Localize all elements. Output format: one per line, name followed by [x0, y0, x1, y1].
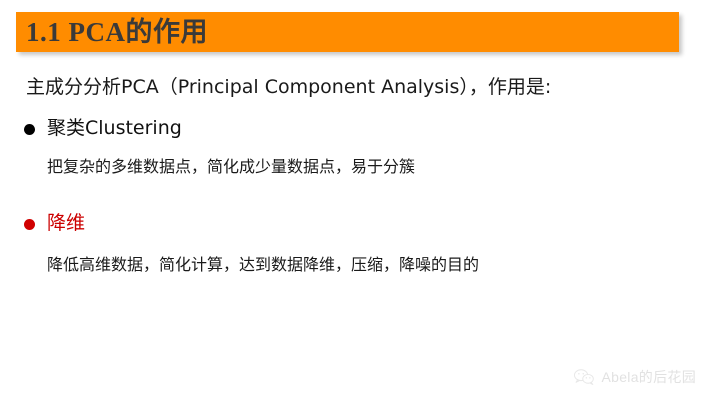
bullet-label-clustering: 聚类Clustering	[47, 116, 182, 141]
slide-body: 主成分分析PCA（Principal Component Analysis），作…	[0, 76, 720, 277]
bullet-label-dimension-reduction: 降维	[47, 211, 85, 236]
page-title: 1.1 PCA的作用	[16, 19, 208, 46]
slide-canvas: 1.1 PCA的作用 主成分分析PCA（Principal Component …	[0, 0, 720, 405]
wechat-icon	[573, 368, 595, 386]
list-item: 聚类Clustering	[0, 116, 720, 141]
lead-paragraph: 主成分分析PCA（Principal Component Analysis），作…	[0, 76, 720, 100]
slide-title-bar: 1.1 PCA的作用	[16, 12, 679, 52]
list-item: 降维	[0, 211, 720, 236]
watermark: Abela的后花园	[573, 367, 696, 387]
bullet-dot-icon	[24, 219, 35, 230]
bullet-dot-icon	[24, 124, 35, 135]
bullet-subtext-dimension-reduction: 降低高维数据，简化计算，达到数据降维，压缩，降噪的目的	[0, 256, 720, 277]
watermark-label: Abela的后花园	[601, 367, 696, 387]
bullet-subtext-clustering: 把复杂的多维数据点，简化成少量数据点，易于分簇	[0, 158, 720, 179]
